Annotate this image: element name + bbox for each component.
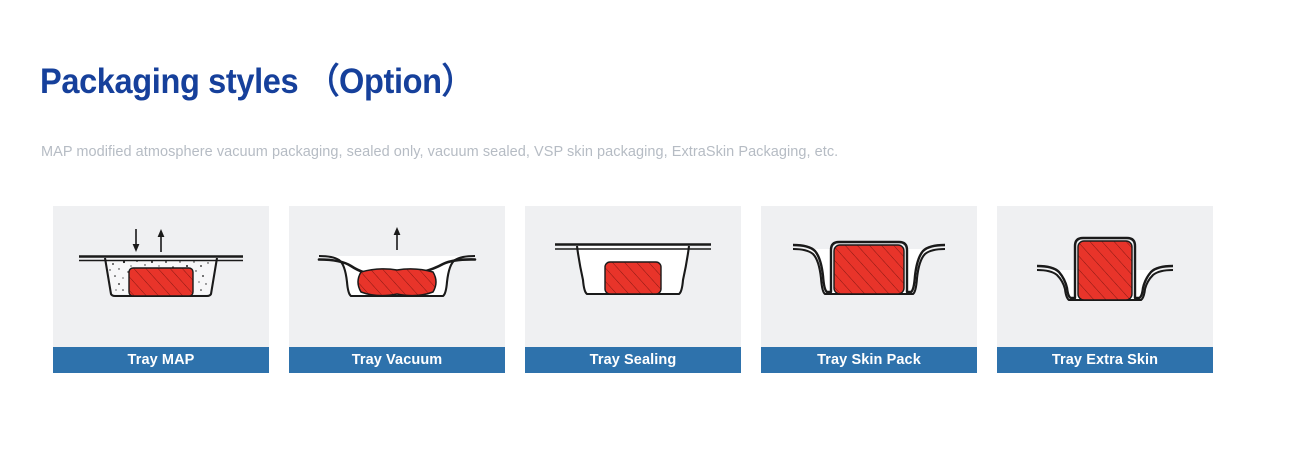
packaging-styles-page: Packaging styles （Option） MAP modified a… — [0, 0, 1289, 456]
tray-skin-pack-figure — [761, 206, 977, 347]
packaging-style-card[interactable]: Tray MAP — [53, 206, 269, 373]
tray-map-figure — [53, 206, 269, 347]
product-block — [605, 262, 661, 294]
product-block — [834, 245, 904, 294]
tray-vacuum-figure — [289, 206, 505, 347]
packaging-style-label: Tray MAP — [53, 347, 269, 373]
packaging-style-card[interactable]: Tray Vacuum — [289, 206, 505, 373]
product-block — [1078, 241, 1132, 300]
up-arrow-icon — [394, 227, 401, 250]
product-blob — [358, 269, 436, 296]
packaging-style-card[interactable]: Tray Skin Pack — [761, 206, 977, 373]
tray-extra-skin-figure — [997, 206, 1213, 347]
product-block — [129, 268, 193, 296]
down-arrow-icon — [133, 229, 140, 252]
page-subtitle: MAP modified atmosphere vacuum packaging… — [41, 144, 838, 160]
up-arrow-icon — [158, 229, 165, 252]
packaging-style-card-list: Tray MAP — [53, 206, 1213, 373]
page-title: Packaging styles （Option） — [40, 53, 474, 104]
tray-sealing-figure — [525, 206, 741, 347]
packaging-style-card[interactable]: Tray Extra Skin — [997, 206, 1213, 373]
packaging-style-label: Tray Skin Pack — [761, 347, 977, 373]
packaging-style-label: Tray Extra Skin — [997, 347, 1213, 373]
packaging-style-label: Tray Sealing — [525, 347, 741, 373]
packaging-style-label: Tray Vacuum — [289, 347, 505, 373]
packaging-style-card[interactable]: Tray Sealing — [525, 206, 741, 373]
